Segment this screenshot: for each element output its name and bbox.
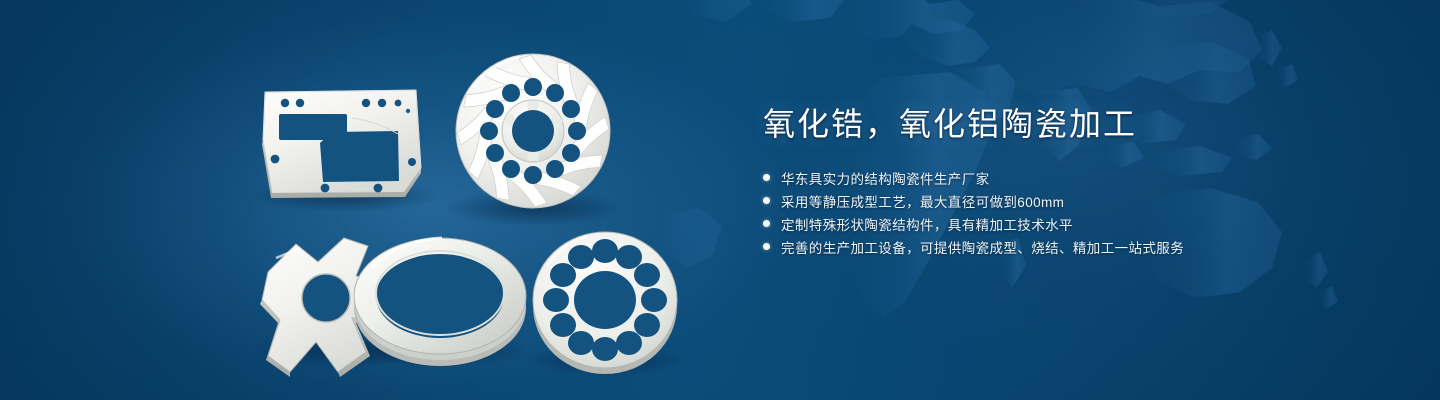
feature-text: 定制特殊形状陶瓷结构件，具有精加工技术水平 [781, 214, 1073, 234]
bullet-dot-icon [763, 243, 770, 250]
feature-text: 华东具实力的结构陶瓷件生产厂家 [781, 168, 990, 188]
ceramic-perforated-disc-shape [533, 232, 677, 374]
bullet-dot-icon [763, 220, 770, 227]
hero-banner: 氧化锆，氧化铝陶瓷加工 华东具实力的结构陶瓷件生产厂家 采用等静压成型工艺，最大… [0, 0, 1440, 400]
ceramic-ring-shape [354, 238, 526, 366]
list-item: 华东具实力的结构陶瓷件生产厂家 [763, 166, 1383, 189]
ceramic-flat-plate-shape [262, 90, 421, 198]
list-item: 完善的生产加工设备，可提供陶瓷成型、烧结、精加工一站式服务 [763, 235, 1383, 258]
ceramic-impeller-shape [455, 53, 611, 209]
ceramic-products-image [0, 0, 760, 400]
feature-text: 采用等静压成型工艺，最大直径可做到600mm [781, 191, 1064, 211]
list-item: 定制特殊形状陶瓷结构件，具有精加工技术水平 [763, 212, 1383, 235]
bullet-dot-icon [763, 174, 770, 181]
list-item: 采用等静压成型工艺，最大直径可做到600mm [763, 189, 1383, 212]
banner-copy: 氧化锆，氧化铝陶瓷加工 华东具实力的结构陶瓷件生产厂家 采用等静压成型工艺，最大… [763, 102, 1383, 258]
page-title: 氧化锆，氧化铝陶瓷加工 [763, 102, 1383, 146]
bullet-dot-icon [763, 197, 770, 204]
feature-list: 华东具实力的结构陶瓷件生产厂家 采用等静压成型工艺，最大直径可做到600mm 定… [763, 166, 1383, 258]
feature-text: 完善的生产加工设备，可提供陶瓷成型、烧结、精加工一站式服务 [781, 237, 1184, 257]
